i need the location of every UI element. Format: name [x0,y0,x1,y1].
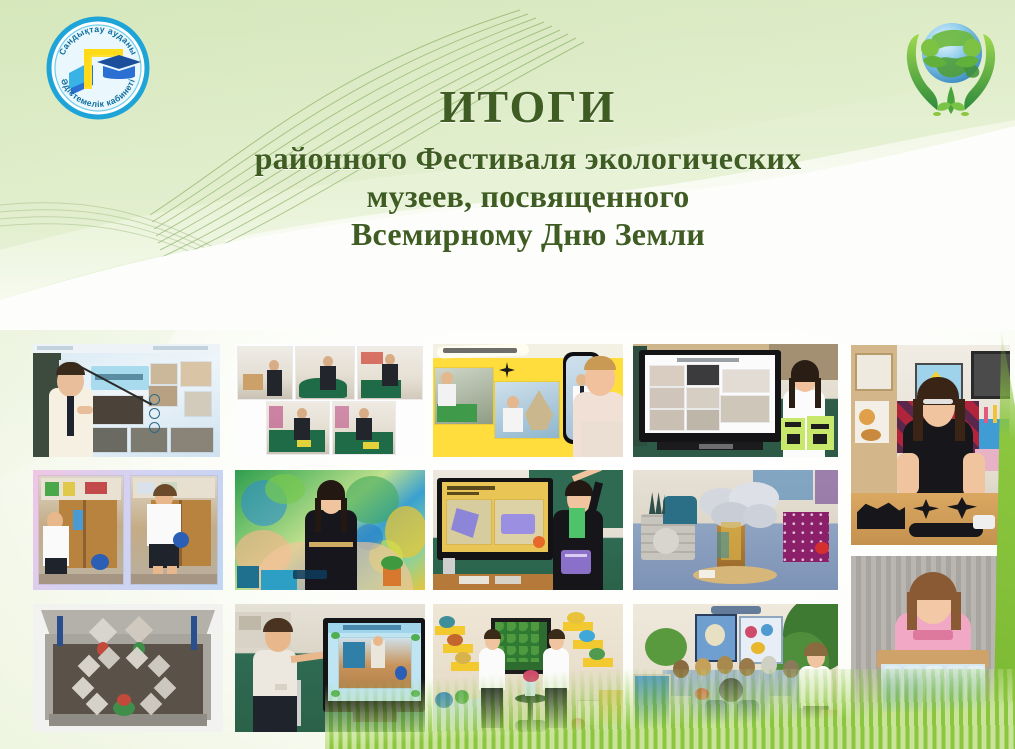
gallery-photo-r3c4 [633,604,838,732]
gallery-photo-r3c1 [33,604,223,732]
poster-title-block: ИТОГИ районного Фестиваля экологических … [128,80,928,254]
gallery-photo-r1c4 [633,344,838,457]
poster-title-main: ИТОГИ [128,80,928,134]
poster-title-subtitle: районного Фестиваля экологических музеев… [128,140,928,253]
gallery-photo-r3c2 [235,604,425,732]
gallery-photo-r2c2 [235,470,425,590]
gallery-photo-r2c1 [33,470,223,590]
gallery-photo-r1c5 [851,345,1010,545]
gallery-photo-r1c2 [235,344,425,457]
gallery-photo-r1c3 [433,344,623,457]
gallery-photo-r3c3 [433,604,623,732]
poster-title-line-3: Всемирному Дню Земли [128,216,928,254]
gallery-photo-r2c4 [633,470,838,590]
gallery-photo-r1c1 [33,344,220,457]
poster-title-line-1: районного Фестиваля экологических [128,140,928,178]
poster-title-line-2: музеев, посвященного [128,178,928,216]
poster-root: Сандықтау ауданы Әдістемелік кабинеті [0,0,1015,749]
gallery-photo-r2c5 [851,556,1010,744]
gallery-photo-r2c3 [433,470,623,590]
